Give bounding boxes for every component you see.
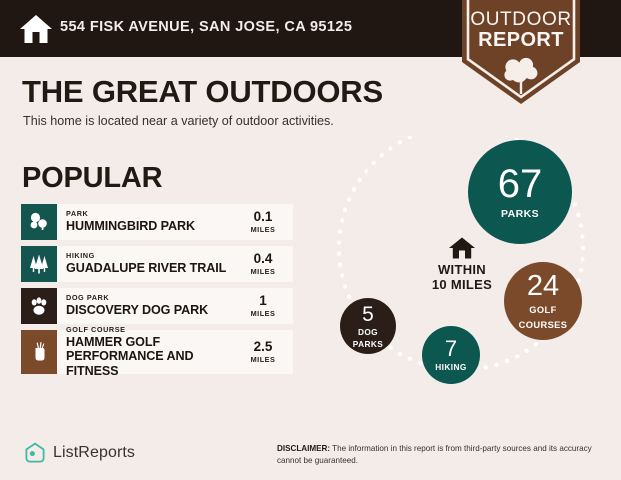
page-subtitle: This home is located near a variety of o… [23,114,334,128]
bubble-golf-label-line2: COURSES [519,320,568,330]
list-item[interactable]: DOG PARK DISCOVERY DOG PARK 1 MILES [21,288,293,324]
list-item-name: HAMMER GOLF PERFORMANCE AND FITNESS [66,335,237,377]
listreports-wordmark: ListReports [53,444,135,462]
bubble-dogs-value: 5 [362,304,374,325]
house-icon [448,236,476,260]
list-item[interactable]: PARK HUMMINGBIRD PARK 0.1 MILES [21,204,293,240]
pine-trees-icon [21,246,57,282]
list-item-name: GUADALUPE RIVER TRAIL [66,261,237,275]
list-item-category: PARK [66,210,237,218]
list-item-distance: 1 [259,294,267,308]
bubble-hiking[interactable]: 7 HIKING [422,326,480,384]
bubble-parks[interactable]: 67 PARKS [468,140,572,244]
page-title: THE GREAT OUTDOORS [22,74,383,110]
outdoor-report-badge: OUTDOOR REPORT [462,0,580,108]
list-item-category: GOLF COURSE [66,326,237,334]
bubble-hiking-value: 7 [445,338,457,360]
list-item-name: DISCOVERY DOG PARK [66,303,237,317]
list-item-unit: MILES [251,225,276,234]
list-item-name: HUMMINGBIRD PARK [66,219,237,233]
badge-text: OUTDOOR REPORT [462,10,580,51]
list-item[interactable]: HIKING GUADALUPE RIVER TRAIL 0.4 MILES [21,246,293,282]
bubble-dog-parks[interactable]: 5 DOG PARKS [340,298,396,354]
bubble-dogs-label-line2: PARKS [353,340,383,349]
bubble-dogs-label-line1: DOG [358,328,378,337]
chart-center-label: WITHIN 10 MILES [402,236,522,293]
bubble-golf-value: 24 [527,272,559,301]
list-item[interactable]: GOLF COURSE HAMMER GOLF PERFORMANCE AND … [21,330,293,374]
bubble-parks-value: 67 [498,164,543,204]
listreports-house-pin-icon [24,442,46,464]
property-address: 554 FISK AVENUE, SAN JOSE, CA 95125 [60,19,352,35]
list-item-distance: 2.5 [254,340,273,354]
bubble-golf-label-line1: GOLF [529,305,556,315]
bubble-hiking-label: HIKING [435,363,466,372]
list-item-category: DOG PARK [66,294,237,302]
popular-section-heading: POPULAR [22,162,162,195]
within-10-miles-chart: 67 PARKS 24 GOLF COURSES 7 HIKING 5 DOG … [318,136,608,406]
golf-bag-icon [21,330,57,374]
disclaimer-label: DISCLAIMER: [277,444,330,453]
list-item-distance: 0.4 [254,252,273,266]
list-item-unit: MILES [251,355,276,364]
center-line-2: 10 MILES [402,278,522,293]
paw-print-icon [21,288,57,324]
outdoor-report-page: 554 FISK AVENUE, SAN JOSE, CA 95125 OUTD… [0,0,621,480]
list-item-distance: 0.1 [254,210,273,224]
disclaimer: DISCLAIMER: The information in this repo… [277,443,597,466]
list-item-unit: MILES [251,309,276,318]
list-item-category: HIKING [66,252,237,260]
badge-line-2: REPORT [462,30,580,51]
center-line-1: WITHIN [402,263,522,278]
house-icon [18,13,54,45]
badge-line-1: OUTDOOR [462,10,580,30]
listreports-logo[interactable]: ListReports [24,442,135,464]
bubble-parks-label: PARKS [501,209,539,220]
popular-list: PARK HUMMINGBIRD PARK 0.1 MILES [21,204,293,380]
park-trees-icon [21,204,57,240]
list-item-unit: MILES [251,267,276,276]
